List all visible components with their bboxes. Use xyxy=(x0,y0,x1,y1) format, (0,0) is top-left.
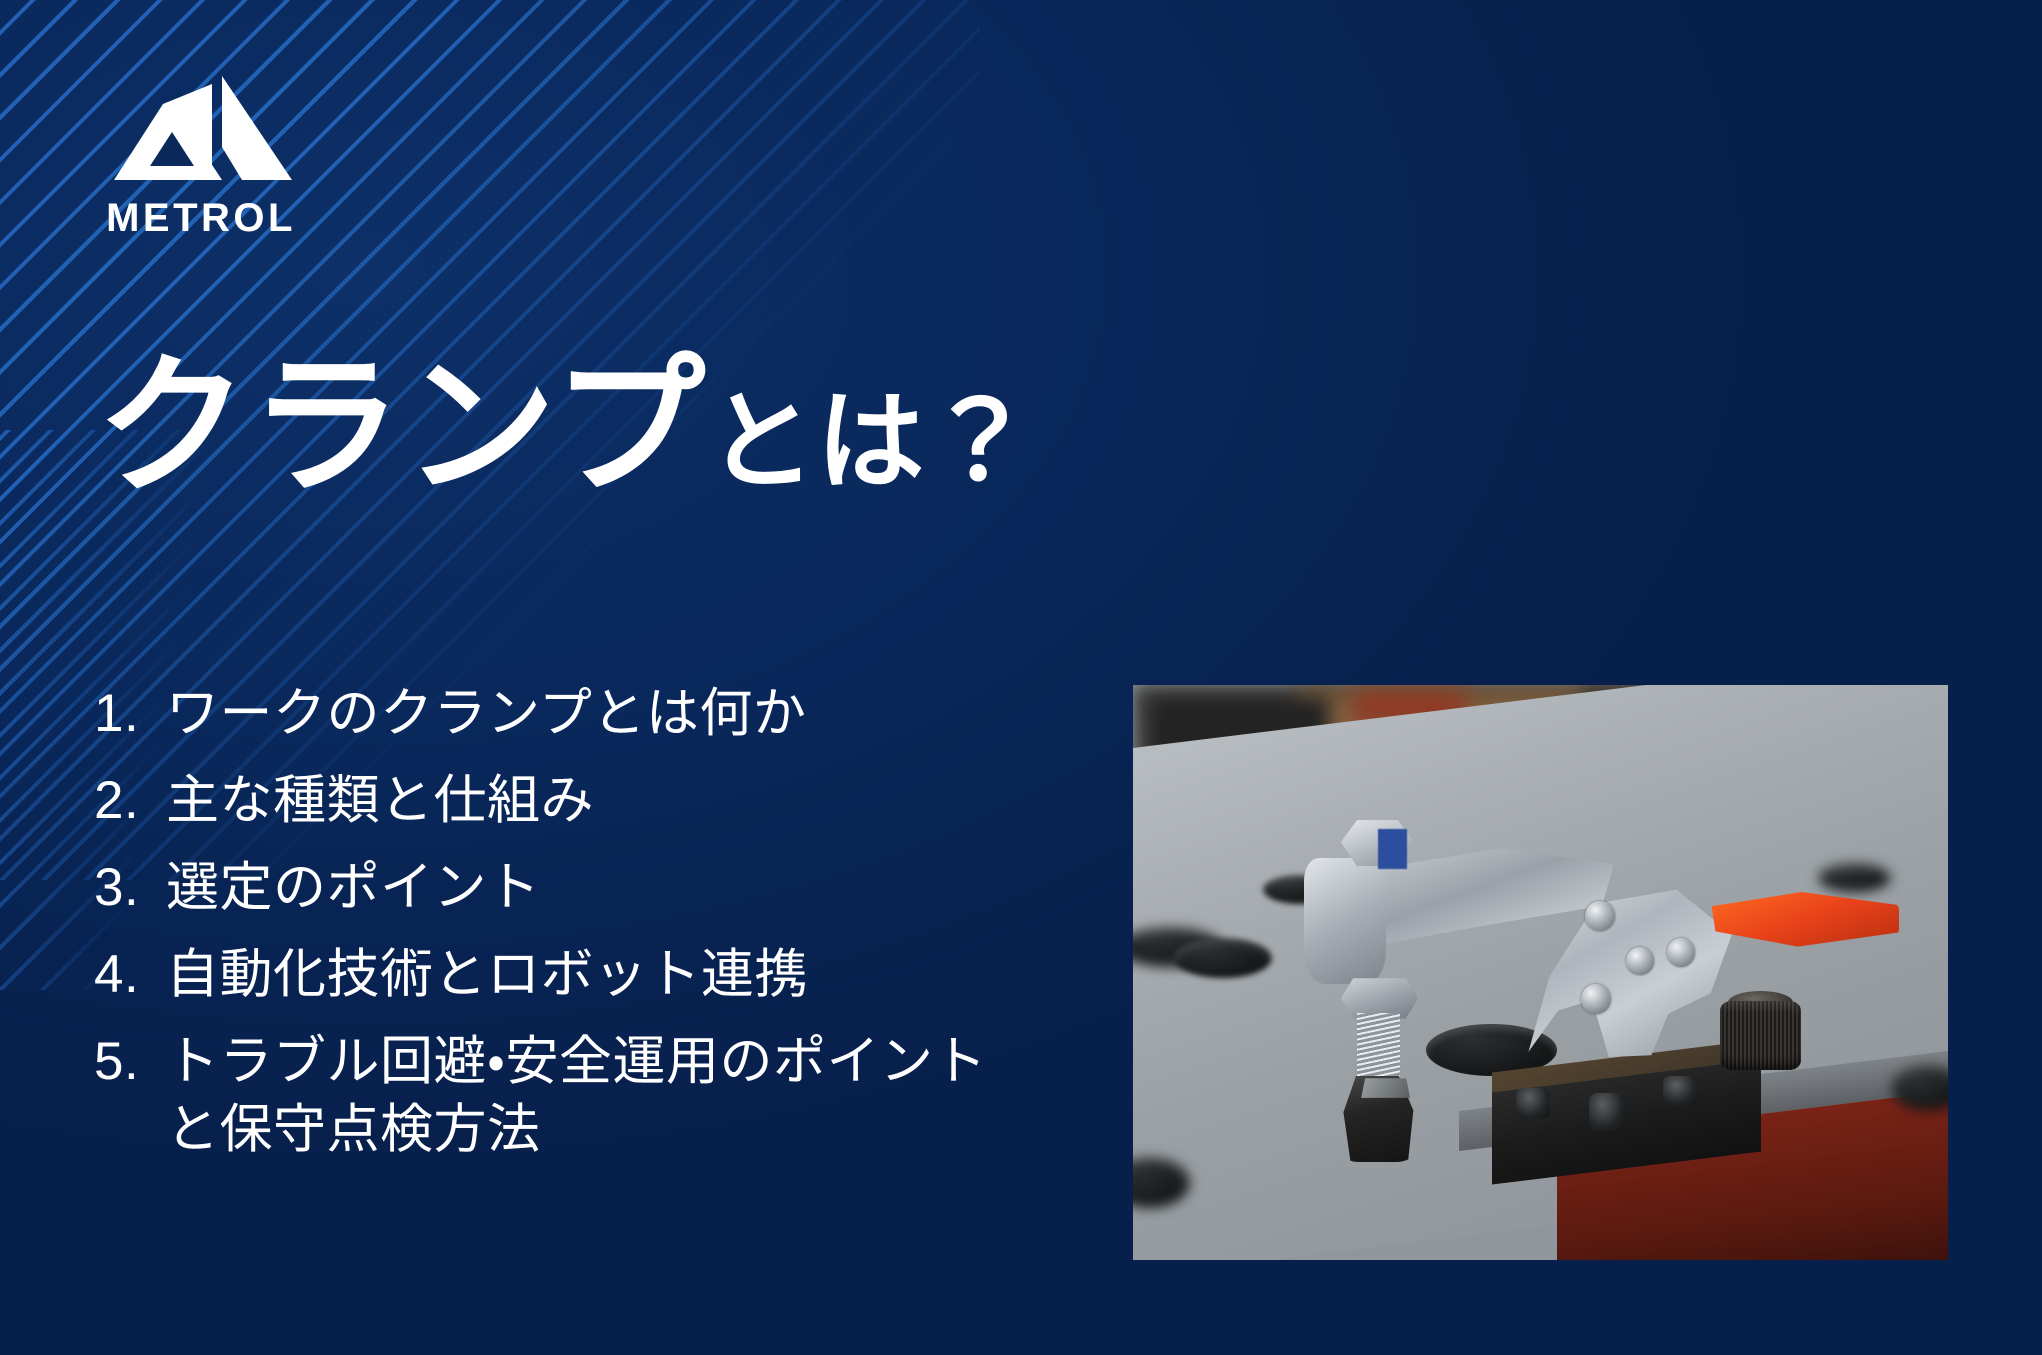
list-item-label: ワークのクランプとは何か xyxy=(166,680,1094,749)
list-item-number: 5. xyxy=(94,1028,166,1097)
clamp-pivot-housing xyxy=(1304,858,1386,985)
clamp-rivet xyxy=(1585,901,1614,931)
agenda-list: 1. ワークのクランプとは何か 2. 主な種類と仕組み 3. 選定のポイント 4… xyxy=(94,680,1094,1183)
page-title-suffix: とは？ xyxy=(707,381,1034,502)
list-item: 2. 主な種類と仕組み xyxy=(94,767,1094,836)
list-item: 5. トラブル回避・安全運用のポイント と保守点検方法 xyxy=(94,1028,1094,1166)
clamp-blue-marker xyxy=(1378,829,1407,869)
list-item-line: 自動化技術とロボット連携 xyxy=(166,941,1094,1010)
socket-head-bolt xyxy=(1516,1088,1550,1120)
brand-logo: METROL xyxy=(98,76,304,238)
socket-head-bolt xyxy=(1663,1076,1697,1106)
page-title: クランプとは？ xyxy=(96,351,1034,503)
list-item-number: 3. xyxy=(94,854,166,923)
list-item-label: 選定のポイント xyxy=(166,854,1094,923)
plate-hole xyxy=(1174,938,1272,978)
list-item-line: 主な種類と仕組み xyxy=(166,767,1094,836)
brand-name: METROL xyxy=(98,198,304,238)
list-item-number: 2. xyxy=(94,767,166,836)
clamp-photo-scene xyxy=(1133,685,1948,1260)
list-item-number: 4. xyxy=(94,941,166,1010)
list-item-label: 自動化技術とロボット連携 xyxy=(166,941,1094,1010)
page-title-main: クランプ xyxy=(96,342,707,512)
clamp-rivet xyxy=(1581,984,1610,1014)
list-item: 3. 選定のポイント xyxy=(94,854,1094,923)
list-item-line: と保守点検方法 xyxy=(166,1096,1094,1165)
clamp-rivet xyxy=(1626,947,1654,976)
list-item: 4. 自動化技術とロボット連携 xyxy=(94,941,1094,1010)
list-item-label: 主な種類と仕組み xyxy=(166,767,1094,836)
clamp-rivet xyxy=(1667,938,1695,967)
list-item-line: トラブル回避・安全運用のポイント xyxy=(166,1028,1094,1097)
socket-head-bolt xyxy=(1589,1093,1625,1130)
list-item-label: トラブル回避・安全運用のポイント と保守点検方法 xyxy=(166,1028,1094,1166)
list-item-line: 選定のポイント xyxy=(166,854,1094,923)
mountain-logo-icon xyxy=(110,76,292,184)
list-item-number: 1. xyxy=(94,680,166,749)
list-item: 1. ワークのクランプとは何か xyxy=(94,680,1094,749)
clamp-photo xyxy=(1133,685,1948,1260)
knurled-knob xyxy=(1720,1001,1802,1070)
slide-canvas: METROL クランプとは？ 1. ワークのクランプとは何か 2. 主な種類と仕… xyxy=(0,0,2042,1355)
list-item-line: ワークのクランプとは何か xyxy=(166,680,1094,749)
clamp-tip-collar xyxy=(1361,1078,1410,1098)
plate-hole xyxy=(1818,863,1891,892)
